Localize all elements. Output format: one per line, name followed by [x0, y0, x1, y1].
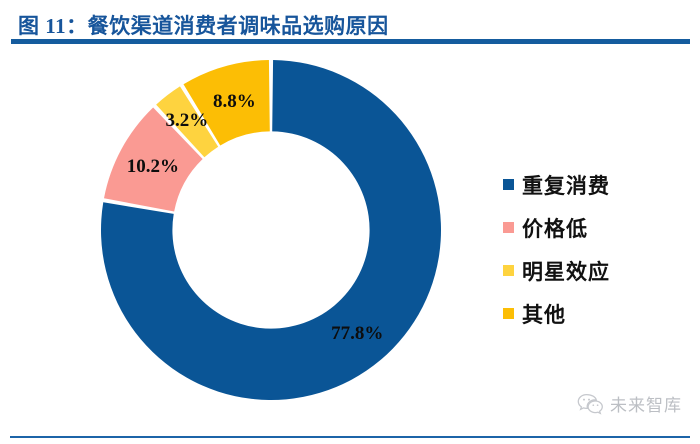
- legend-label-1: 价格低: [522, 213, 588, 243]
- legend-item-0[interactable]: 重复消费: [503, 163, 683, 206]
- legend-item-3[interactable]: 其他: [503, 292, 683, 335]
- legend-swatch-icon-0: [503, 179, 514, 190]
- donut-chart: 77.8%10.2%3.2%8.8%: [96, 58, 446, 403]
- donut-slice-group: [101, 60, 441, 400]
- watermark-text: 未来智库: [610, 391, 682, 416]
- legend-item-1[interactable]: 价格低: [503, 206, 683, 249]
- legend-swatch-icon-1: [503, 222, 514, 233]
- slice-data-label-1: 10.2%: [127, 156, 179, 177]
- page-title: 图 11：餐饮渠道消费者调味品选购原因: [18, 12, 682, 40]
- donut-svg: 77.8%10.2%3.2%8.8%: [96, 58, 446, 403]
- title-row: 图 11：餐饮渠道消费者调味品选购原因: [18, 12, 682, 42]
- legend-label-0: 重复消费: [522, 170, 610, 200]
- slice-data-label-3: 8.8%: [213, 91, 256, 112]
- title-divider: [11, 39, 690, 44]
- watermark: 未来智库: [577, 391, 682, 416]
- legend-label-3: 其他: [522, 299, 566, 329]
- slice-data-label-2: 3.2%: [166, 110, 209, 131]
- chart-figure: 图 11：餐饮渠道消费者调味品选购原因 77.8%10.2%3.2%8.8% 重…: [0, 0, 700, 444]
- legend-item-2[interactable]: 明星效应: [503, 249, 683, 292]
- legend-label-2: 明星效应: [522, 256, 610, 286]
- footer-divider: [10, 436, 690, 438]
- chart-legend: 重复消费 价格低 明星效应 其他: [503, 163, 683, 335]
- legend-swatch-icon-3: [503, 308, 514, 319]
- wechat-icon: [577, 393, 603, 415]
- slice-data-label-0: 77.8%: [331, 323, 383, 344]
- legend-swatch-icon-2: [503, 265, 514, 276]
